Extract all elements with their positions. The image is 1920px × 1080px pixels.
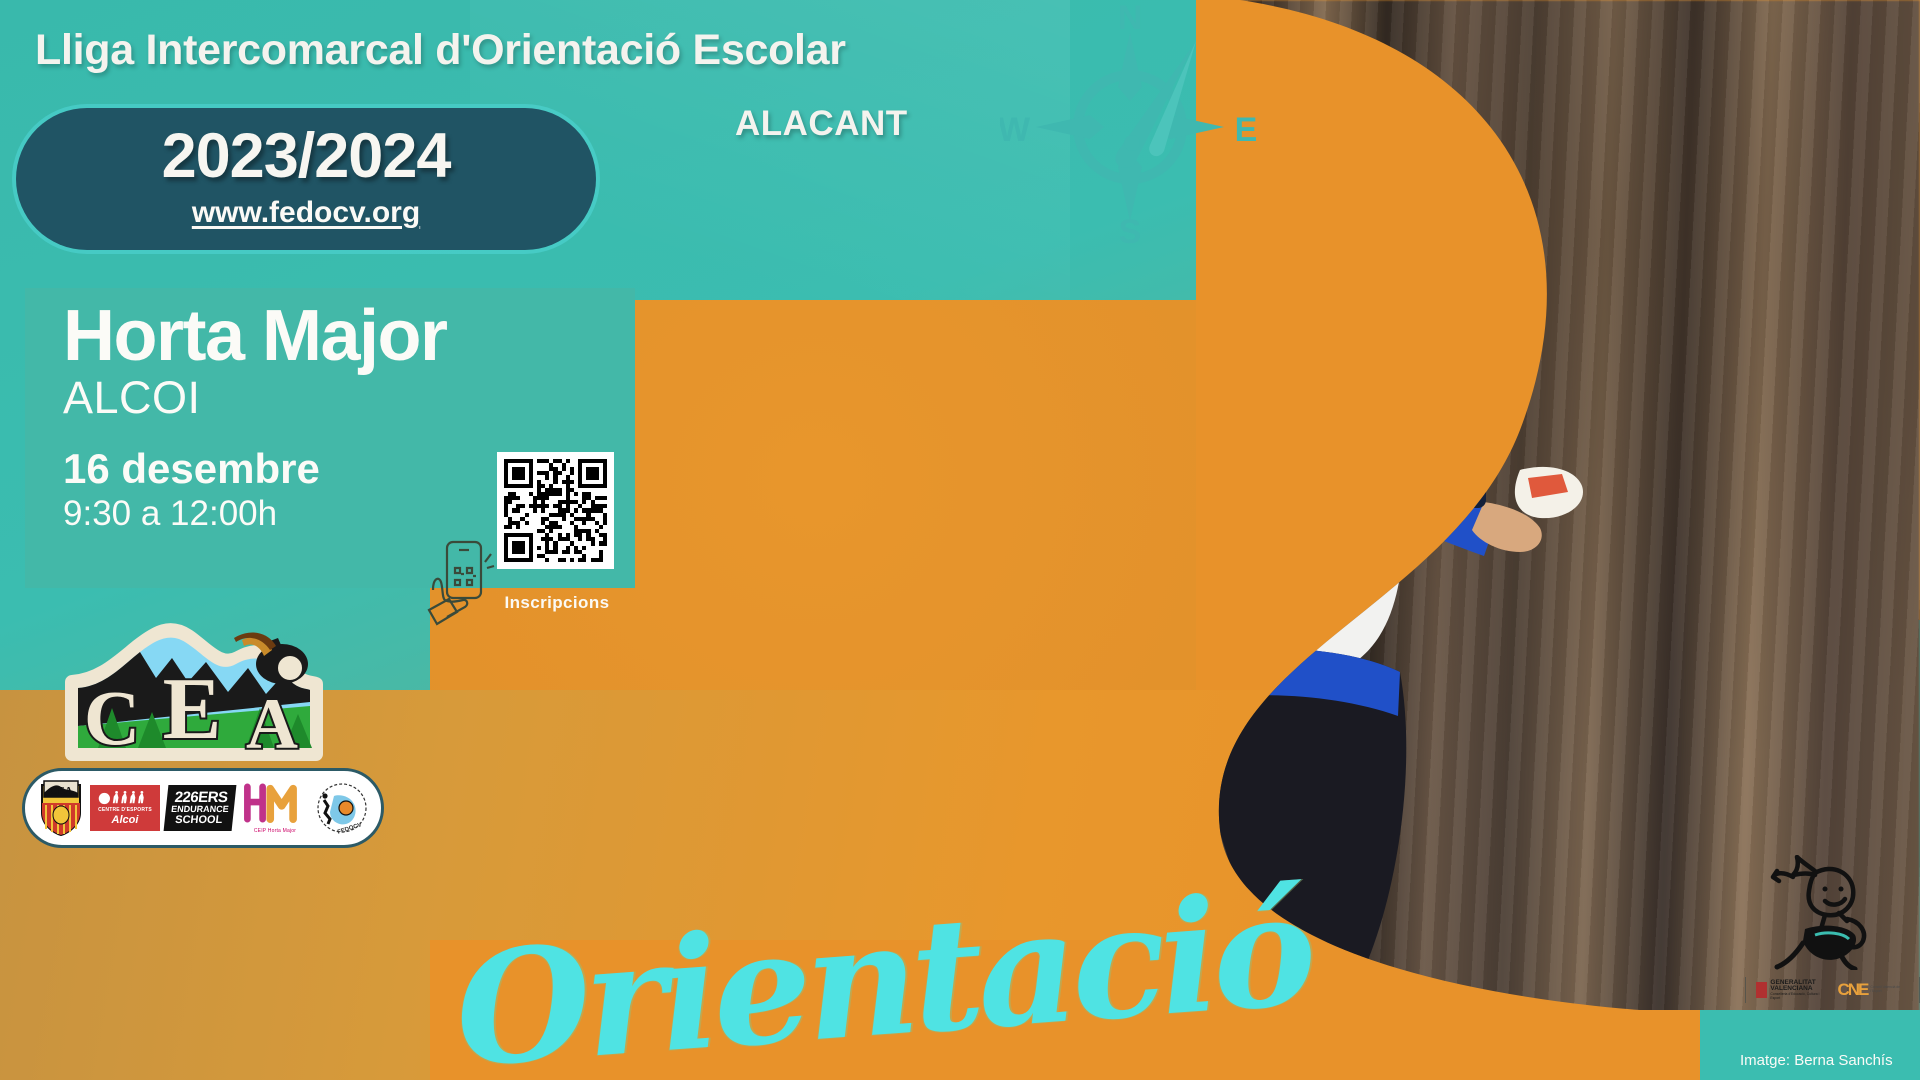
compass-north-label: N bbox=[1118, 5, 1143, 37]
compass-west-label: W bbox=[1000, 111, 1031, 149]
svg-text:CEA: CEA bbox=[49, 785, 72, 797]
hand-phone-scan-icon bbox=[425, 534, 495, 632]
running-child-mascot-icon bbox=[1763, 855, 1888, 970]
sponsor-alcoi-line1: CENTRE D'ESPORTS bbox=[98, 807, 152, 813]
sponsor-horta-major-logo[interactable]: CEIP Horta Major bbox=[240, 783, 310, 833]
website-link[interactable]: www.fedocv.org bbox=[16, 196, 596, 230]
divider-left bbox=[1745, 977, 1746, 1003]
page-subtitle: ALACANT bbox=[735, 104, 908, 144]
sponsor-alcoi-line2: Alcoi bbox=[112, 814, 139, 826]
svg-text:517: 517 bbox=[1271, 523, 1344, 572]
sponsor-226ers-logo[interactable]: 226ERS ENDURANCE SCHOOL bbox=[166, 785, 234, 831]
generalitat-valenciana-logo: GENERALITAT VALENCIANA Conselleria d'Edu… bbox=[1756, 980, 1827, 1001]
event-venue: Horta Major bbox=[63, 302, 635, 372]
season-years: 2023/2024 bbox=[16, 120, 596, 192]
svg-text:A: A bbox=[246, 684, 298, 762]
sponsor-226-line1: 226ERS bbox=[174, 790, 229, 806]
sponsor-fedocv-logo[interactable]: FEDOCV bbox=[316, 782, 368, 834]
gv-sub: Conselleria d'Educació, Cultura i Esport bbox=[1770, 993, 1827, 1000]
cne-logo: CNE Consell Valencià de l'Esport bbox=[1837, 980, 1909, 1000]
sponsor-centre-esports-alcoi-logo[interactable]: CENTRE D'ESPORTS Alcoi bbox=[90, 785, 160, 831]
svg-text:C: C bbox=[84, 674, 140, 761]
compass-east-label: E bbox=[1235, 111, 1258, 149]
svg-text:PILOT: PILOT bbox=[1297, 444, 1384, 477]
registration-label: Inscripcions bbox=[497, 593, 617, 613]
season-badge: 2023/2024 www.fedocv.org bbox=[16, 108, 596, 250]
sponsor-226-line3: SCHOOL bbox=[175, 815, 223, 827]
qr-code-icon bbox=[504, 459, 607, 562]
registration-qr-code[interactable] bbox=[497, 452, 614, 569]
svg-text:E: E bbox=[163, 661, 222, 758]
cne-sub: Consell Valencià de l'Esport bbox=[1870, 986, 1909, 993]
page-title: Lliga Intercomarcal d'Orientació Escolar bbox=[35, 26, 846, 75]
sponsor-bar: CEA bbox=[22, 768, 384, 848]
svg-text:Activa: Activa bbox=[1247, 390, 1287, 405]
poster-canvas: 517 Activa PILOT bbox=[0, 0, 1920, 1080]
cea-mountain-logo: C E A bbox=[60, 622, 325, 762]
sponsor-horta-major-caption: CEIP Horta Major bbox=[240, 828, 310, 834]
institutional-logo-row: GENERALITAT VALENCIANA Conselleria d'Edu… bbox=[1745, 975, 1920, 1005]
image-credit: Imatge: Berna Sanchís bbox=[1740, 1052, 1893, 1069]
compass-rose-icon: N S W E bbox=[1000, 5, 1260, 245]
institutional-logos: GENERALITAT VALENCIANA Conselleria d'Edu… bbox=[1745, 855, 1920, 1080]
generalitat-shield-icon bbox=[1756, 982, 1767, 998]
compass-south-label: S bbox=[1119, 213, 1142, 245]
sponsor-cea-crest-logo[interactable]: CEA bbox=[38, 779, 84, 837]
cne-mark: CNE bbox=[1837, 980, 1867, 1000]
event-city: ALCOI bbox=[63, 374, 635, 421]
